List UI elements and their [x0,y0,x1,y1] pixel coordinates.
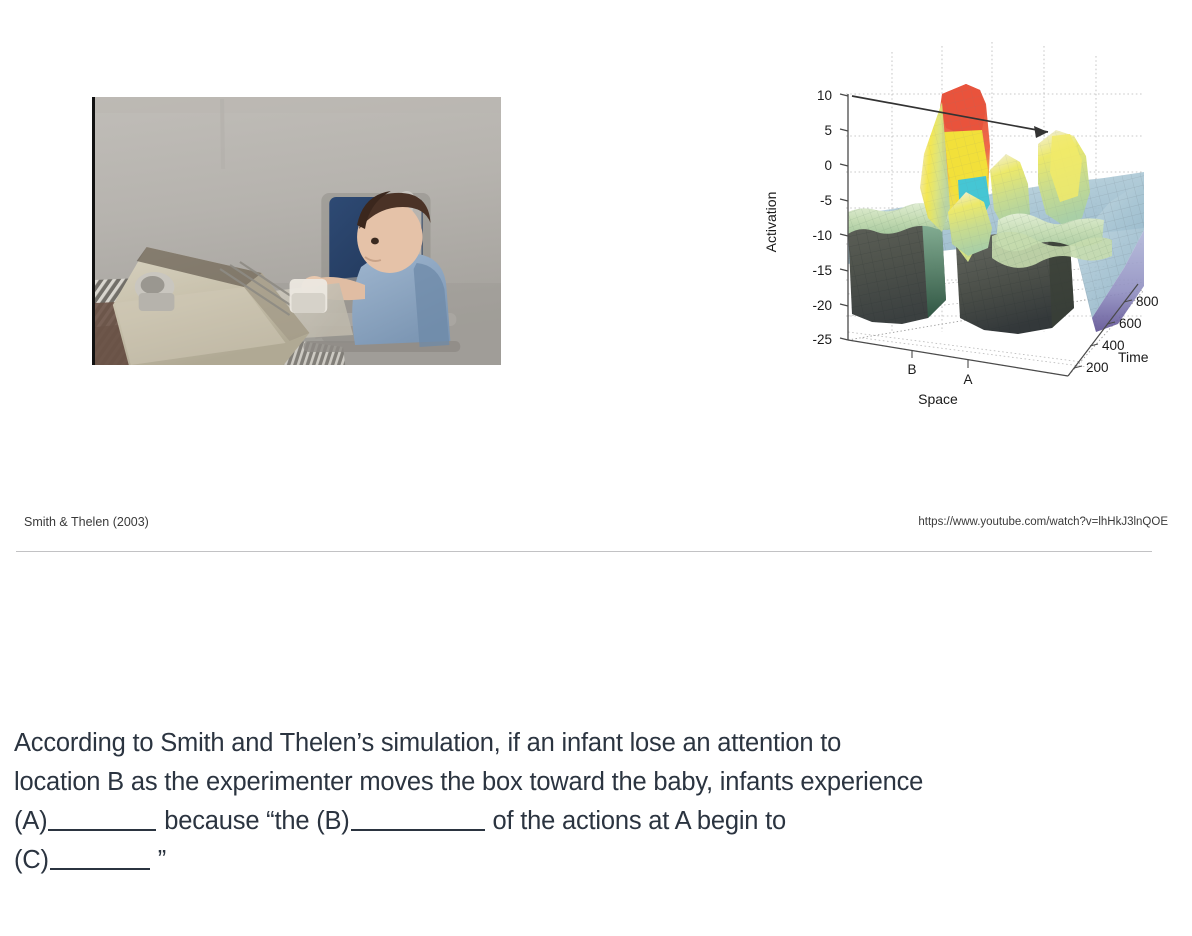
question-text-block: According to Smith and Thelen’s simulati… [14,724,1179,880]
blank-a-label: (A) [14,807,47,835]
blank-c-input[interactable] [50,842,150,870]
citation-label: Smith & Thelen (2003) [24,515,149,529]
activation-surface-svg: 10 5 0 -5 -10 -15 -20 -25 Activation [752,32,1182,412]
z-tick-10: 10 [817,88,832,103]
question-line-3-post: of the actions at A begin to [486,807,786,835]
space-tick-A: A [963,372,972,387]
activation-axis-title: Activation [763,192,779,253]
question-line-3-mid: because “the (B) [157,807,349,835]
surface-trough-B [848,218,946,324]
z-tick-m25: -25 [812,332,832,347]
blank-b-input[interactable] [351,803,485,831]
time-tick-200: 200 [1086,360,1109,375]
z-tick-m15: -15 [812,263,832,278]
activation-surface-plot: 10 5 0 -5 -10 -15 -20 -25 Activation [752,32,1182,412]
z-tick-m5: -5 [820,193,832,208]
space-axis-title: Space [918,391,958,407]
question-line-3: (A) because “the (B) of the actions at A… [14,802,1179,841]
surface-peak-right [1038,130,1090,226]
source-url-link[interactable]: https://www.youtube.com/watch?v=lhHkJ3ln… [918,516,1168,528]
question-line-1: According to Smith and Thelen’s simulati… [14,724,1179,763]
time-tick-600: 600 [1119,316,1142,331]
z-tick-0: 0 [824,158,832,173]
question-line-4-post: ” [151,846,166,874]
infant-video-still [92,97,501,365]
space-tick-B: B [907,362,916,377]
blank-c-label: (C) [14,846,49,874]
slide-top-area: 10 5 0 -5 -10 -15 -20 -25 Activation [0,0,1192,552]
blank-a-input[interactable] [48,803,156,831]
z-tick-m20: -20 [812,298,832,313]
caption-row: Smith & Thelen (2003) https://www.youtub… [0,515,1192,541]
time-tick-800: 800 [1136,294,1159,309]
z-tick-5: 5 [824,123,832,138]
question-line-4: (C) ” [14,841,1179,880]
z-tick-m10: -10 [812,228,832,243]
section-divider [16,551,1152,552]
activation-axis: 10 5 0 -5 -10 -15 -20 -25 Activation [763,88,848,347]
question-line-2: location B as the experimenter moves the… [14,763,1179,802]
infant-photo-graphic [95,97,501,365]
time-axis-title: Time [1118,349,1149,365]
